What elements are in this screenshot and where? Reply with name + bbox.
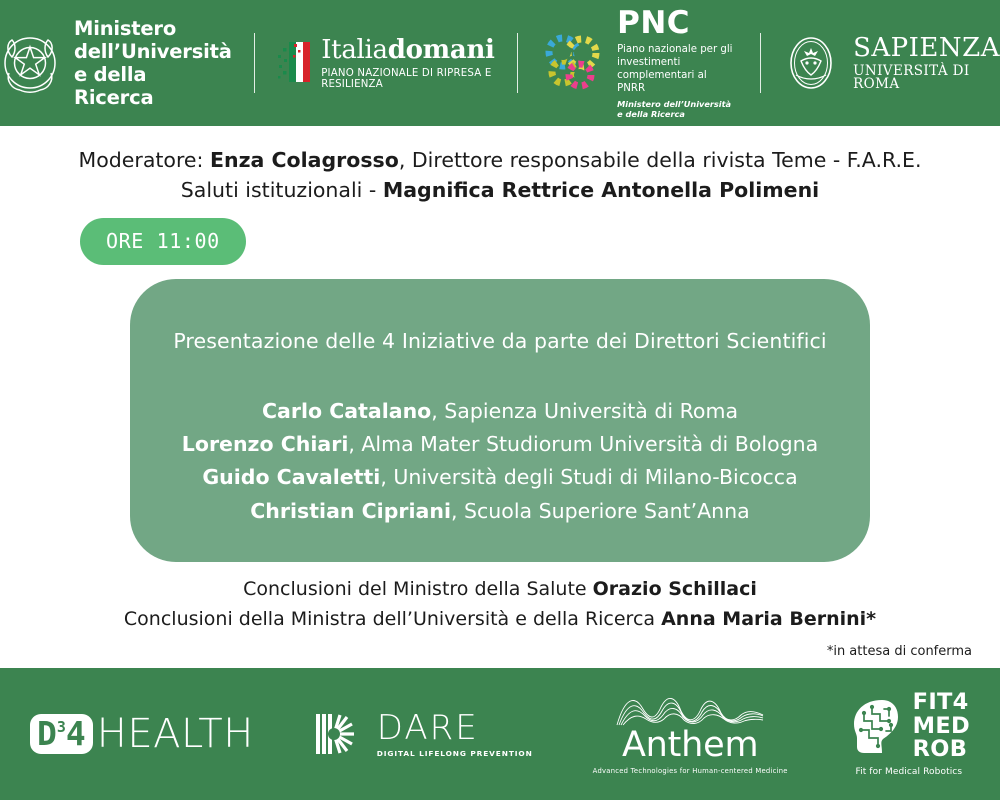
speaker-name: Lorenzo Chiari xyxy=(182,432,349,456)
mur-line-1: Ministero xyxy=(74,17,232,40)
speaker-affiliation: , Alma Mater Studiorum Università di Bol… xyxy=(348,432,818,456)
conclusion-line-health: Conclusioni del Ministro della Salute Or… xyxy=(0,574,1000,604)
speaker-name: Guido Cavaletti xyxy=(202,465,380,489)
pnc-line-1: Piano nazionale per gli investimenti xyxy=(617,43,737,70)
conclusion-health-prefix: Conclusioni del Ministro della Salute xyxy=(243,578,593,600)
speakers-list: Carlo Catalano, Sapienza Università di R… xyxy=(182,395,818,528)
d34health-number: 4 xyxy=(66,719,86,749)
d34health-superscript: 3 xyxy=(57,720,66,735)
d34health-mark: D34 xyxy=(30,714,93,754)
speaker-item: Guido Cavaletti, Università degli Studi … xyxy=(182,461,818,494)
moderator-line: Moderatore: Enza Colagrosso, Direttore r… xyxy=(0,146,1000,176)
fit4medrob-subtitle: Fit for Medical Robotics xyxy=(856,767,963,777)
anthem-subtitle: Advanced Technologies for Human-centered… xyxy=(593,767,788,775)
logo-sapienza: SAPIENZA UNIVERSITÀ DI ROMA xyxy=(783,35,1000,92)
header-logo-row: Ministero dell’Università e della Ricerc… xyxy=(0,0,1000,126)
fit4medrob-line-3: ROB xyxy=(913,738,970,761)
italia-domani-title: Italiadomani xyxy=(321,37,494,63)
pnc-text-block: PNC Piano nazionale per gli investimenti… xyxy=(617,8,737,119)
dare-title: DARE xyxy=(377,711,533,745)
d34health-letter: D xyxy=(37,719,57,749)
logo-fit4medrob: FIT4 MED ROB Fit for Medical Robotics xyxy=(848,691,970,776)
fit4medrob-line-1: FIT4 xyxy=(913,691,970,714)
initiatives-card: Presentazione delle 4 Iniziative da part… xyxy=(130,279,870,562)
time-badge: ORE 11:00 xyxy=(80,218,246,265)
speaker-item: Carlo Catalano, Sapienza Università di R… xyxy=(182,395,818,428)
conclusion-line-university: Conclusioni della Ministra dell’Universi… xyxy=(0,604,1000,634)
conclusions-block: Conclusioni del Ministro della Salute Or… xyxy=(0,574,1000,635)
moderator-name: Enza Colagrosso xyxy=(210,148,399,172)
sapienza-seal-icon xyxy=(783,35,839,91)
dare-subtitle: DIGITAL LIFELONG PREVENTION xyxy=(377,749,533,758)
anthem-title: Anthem xyxy=(622,728,758,763)
logo-ministero-universita-ricerca: Ministero dell’Università e della Ricerc… xyxy=(0,17,232,109)
intro-block: Moderatore: Enza Colagrosso, Direttore r… xyxy=(0,126,1000,205)
sapienza-text-block: SAPIENZA UNIVERSITÀ DI ROMA xyxy=(853,35,1000,92)
footer-logo-band: D34 HEALTH xyxy=(0,668,1000,800)
conclusion-health-name: Orazio Schillaci xyxy=(593,578,757,600)
italian-republic-emblem-icon xyxy=(0,29,60,97)
pnc-line-3: Ministero dell’Università e della Ricerc… xyxy=(617,99,737,119)
mur-text-block: Ministero dell’Università e della Ricerc… xyxy=(74,17,232,109)
confirmation-note: *in attesa di conferma xyxy=(827,644,972,659)
italia-domani-text-block: Italiadomani PIANO NAZIONALE DI RIPRESA … xyxy=(321,37,494,90)
anthem-waveform-icon xyxy=(615,693,765,727)
dare-sunburst-icon xyxy=(314,708,368,760)
sapienza-subtitle: UNIVERSITÀ DI ROMA xyxy=(853,65,1000,92)
logo-italia-domani: Italiadomani PIANO NAZIONALE DI RIPRESA … xyxy=(277,37,494,90)
logo-pnc: PNC Piano nazionale per gli investimenti… xyxy=(540,8,737,119)
mur-line-3: e della Ricerca xyxy=(74,63,232,109)
speaker-affiliation: , Sapienza Università di Roma xyxy=(431,399,738,423)
fit4medrob-lockup: FIT4 MED ROB Fit for Medical Robotics xyxy=(848,691,970,776)
logo-anthem: Anthem Advanced Technologies for Human-c… xyxy=(593,693,788,775)
circuit-head-icon xyxy=(848,697,904,755)
italia-domani-title-bold: domani xyxy=(388,35,495,65)
header-divider-3 xyxy=(760,33,762,93)
mur-line-2: dell’Università xyxy=(74,40,232,63)
header-divider-2 xyxy=(517,33,519,93)
pnc-line-2: complementari al PNRR xyxy=(617,69,737,96)
fit4medrob-row: FIT4 MED ROB xyxy=(848,691,970,761)
header-logo-band: Ministero dell’Università e della Ricerc… xyxy=(0,0,1000,126)
speaker-name: Christian Cipriani xyxy=(250,499,451,523)
fit4medrob-wordmark: FIT4 MED ROB xyxy=(913,691,970,761)
speaker-item: Christian Cipriani, Scuola Superiore San… xyxy=(182,495,818,528)
fit4medrob-line-2: MED xyxy=(913,715,970,738)
card-heading: Presentazione delle 4 Iniziative da part… xyxy=(173,329,826,353)
pnc-title: PNC xyxy=(617,8,737,39)
logo-d34health: D34 HEALTH xyxy=(30,711,254,757)
italia-domani-subtitle: PIANO NAZIONALE DI RIPRESA E RESILIENZA xyxy=(321,68,494,90)
conclusion-university-name: Anna Maria Bernini* xyxy=(661,608,876,630)
logo-dare: DARE DIGITAL LIFELONG PREVENTION xyxy=(314,708,533,760)
italia-domani-title-light: Italia xyxy=(321,35,388,65)
greetings-prefix: Saluti istituzionali - xyxy=(181,178,383,202)
header-divider-1 xyxy=(254,33,256,93)
moderator-prefix: Moderatore: xyxy=(79,148,210,172)
speaker-name: Carlo Catalano xyxy=(262,399,431,423)
d34health-lockup: D34 HEALTH xyxy=(30,711,254,757)
speaker-affiliation: , Scuola Superiore Sant’Anna xyxy=(451,499,750,523)
speaker-affiliation: , Università degli Studi di Milano-Bicoc… xyxy=(380,465,797,489)
conclusion-university-prefix: Conclusioni della Ministra dell’Universi… xyxy=(124,608,661,630)
sapienza-title: SAPIENZA xyxy=(853,35,1000,61)
d34health-wordmark: HEALTH xyxy=(97,711,254,757)
anthem-lockup: Anthem Advanced Technologies for Human-c… xyxy=(593,693,788,775)
greetings-line: Saluti istituzionali - Magnifica Rettric… xyxy=(0,176,1000,206)
greetings-name: Magnifica Rettrice Antonella Polimeni xyxy=(383,178,819,202)
dare-lockup: DARE DIGITAL LIFELONG PREVENTION xyxy=(314,708,533,760)
moderator-suffix: , Direttore responsabile della rivista T… xyxy=(399,148,922,172)
italia-domani-flag-icon xyxy=(277,38,311,88)
dare-text-block: DARE DIGITAL LIFELONG PREVENTION xyxy=(377,711,533,758)
speaker-item: Lorenzo Chiari, Alma Mater Studiorum Uni… xyxy=(182,428,818,461)
pnc-gears-icon xyxy=(540,30,606,96)
